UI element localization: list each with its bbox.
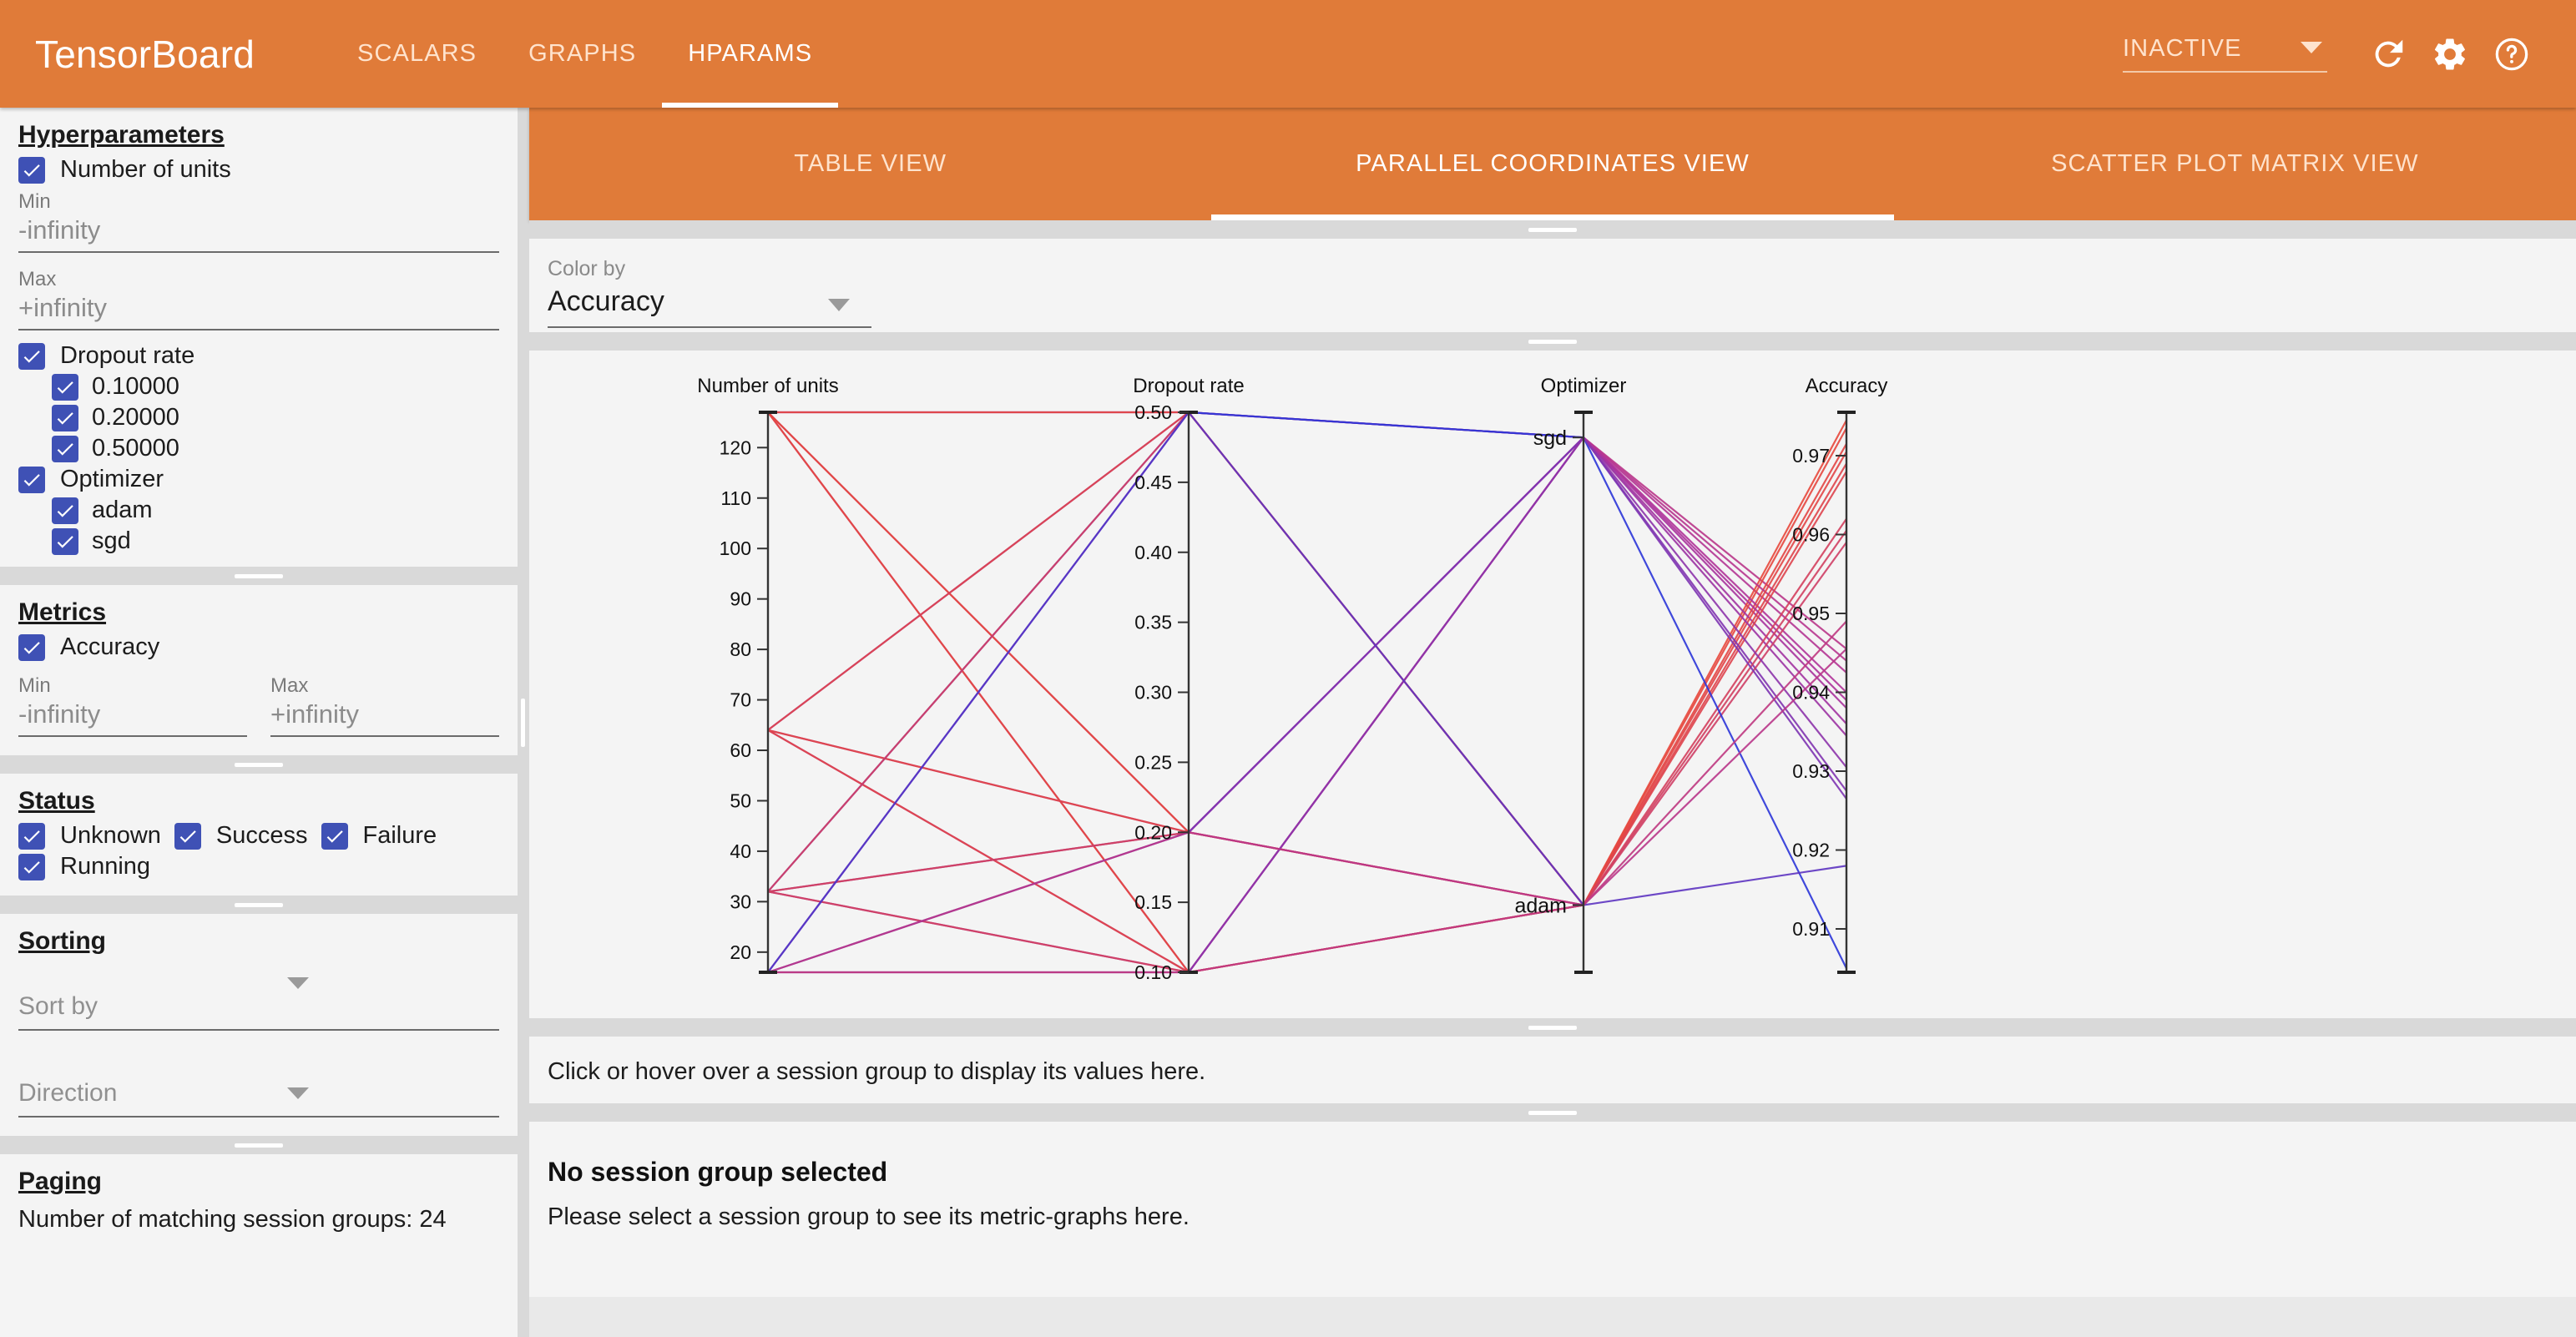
hparam-dropout-rate-row[interactable]: Dropout rate xyxy=(0,341,518,371)
chevron-down-icon xyxy=(2301,42,2322,53)
axis-tick-label: 0.30 xyxy=(1134,682,1172,704)
number-of-units-min-input[interactable]: -infinity xyxy=(18,215,499,251)
axis-tick-label: 20 xyxy=(730,941,751,963)
sidebar-divider-metrics[interactable] xyxy=(0,567,518,585)
matching-session-groups-text: Number of matching session groups: 24 xyxy=(0,1201,518,1234)
help-icon xyxy=(2493,35,2531,73)
session-group-body: Please select a session group to see its… xyxy=(548,1203,1190,1231)
hyperparameters-title: Hyperparameters xyxy=(0,108,518,154)
view-tabs: TABLE VIEW PARALLEL COORDINATES VIEW SCA… xyxy=(529,108,2576,220)
axis-tick-label: 0.95 xyxy=(1792,603,1830,624)
nav-tab-hparams-label: HPARAMS xyxy=(688,40,812,68)
header-actions: INACTIVE xyxy=(2123,23,2576,85)
tab-scatter-plot-matrix-view[interactable]: SCATTER PLOT MATRIX VIEW xyxy=(1894,108,2576,220)
axis-tick-label: 60 xyxy=(730,739,751,761)
axis-category-label: adam xyxy=(1514,894,1567,917)
status-running-label: Running xyxy=(60,853,150,880)
parallel-coordinates-chart[interactable]: Number of units2030405060708090100110120… xyxy=(529,351,2576,1018)
color-by-value[interactable]: Accuracy xyxy=(548,285,664,318)
main-divider-chart[interactable] xyxy=(529,332,2576,351)
session-line[interactable] xyxy=(768,412,1846,906)
hparam-dropout-rate-label: Dropout rate xyxy=(60,342,194,370)
app-header: TensorBoard SCALARS GRAPHS HPARAMS INACT… xyxy=(0,0,2576,108)
axis-title: Accuracy xyxy=(1806,375,1888,397)
reload-status-select[interactable]: INACTIVE xyxy=(2123,35,2327,73)
paging-title: Paging xyxy=(0,1154,518,1201)
metric-accuracy-row[interactable]: Accuracy xyxy=(0,632,518,663)
status-running-row[interactable]: Running xyxy=(18,851,150,882)
main-divider-session[interactable] xyxy=(529,1103,2576,1122)
dropout-rate-value-row[interactable]: 0.20000 xyxy=(0,402,518,433)
resize-grip xyxy=(521,699,525,747)
status-unknown-label: Unknown xyxy=(60,822,161,850)
axis-tick-label: 0.96 xyxy=(1792,523,1830,545)
nav-tab-graphs-label: GRAPHS xyxy=(528,40,636,68)
axis-tick-label: 50 xyxy=(730,790,751,811)
checkbox-dropout-0-50000[interactable] xyxy=(52,436,78,462)
metric-accuracy-label: Accuracy xyxy=(60,633,159,661)
session-line[interactable] xyxy=(768,412,1846,972)
hover-hint-text: Click or hover over a session group to d… xyxy=(548,1058,1205,1086)
optimizer-value-row[interactable]: adam xyxy=(0,495,518,526)
axis-tick-label: 0.92 xyxy=(1792,840,1830,861)
number-of-units-max-field[interactable]: Max +infinity xyxy=(0,253,518,330)
sidebar-divider-status[interactable] xyxy=(0,755,518,774)
sorting-title: Sorting xyxy=(0,914,518,961)
axis-tick-label: 0.50 xyxy=(1134,401,1172,423)
chevron-down-icon xyxy=(287,977,309,989)
axis-tick-label: 30 xyxy=(730,890,751,912)
checkbox-dropout-0-20000[interactable] xyxy=(52,405,78,431)
color-by-panel: Color by Accuracy xyxy=(529,239,2576,332)
dropout-0-10000-label: 0.10000 xyxy=(92,373,179,401)
session-line[interactable] xyxy=(768,412,1846,906)
tab-scatter-plot-matrix-view-label: SCATTER PLOT MATRIX VIEW xyxy=(2051,150,2419,178)
checkbox-optimizer-sgd[interactable] xyxy=(52,528,78,555)
nav-tab-scalars-label: SCALARS xyxy=(357,40,477,68)
tab-parallel-coordinates-view[interactable]: PARALLEL COORDINATES VIEW xyxy=(1211,108,1893,220)
hparam-optimizer-label: Optimizer xyxy=(60,466,164,493)
chevron-down-icon xyxy=(287,1087,309,1099)
status-title: Status xyxy=(0,774,518,820)
axis-tick-label: 100 xyxy=(720,537,751,559)
number-of-units-min-field[interactable]: Min -infinity xyxy=(0,185,518,253)
hover-values-panel: Click or hover over a session group to d… xyxy=(529,1037,2576,1103)
axis-tick-label: 0.35 xyxy=(1134,612,1172,633)
axis-tick-label: 40 xyxy=(730,840,751,862)
dropout-rate-value-row[interactable]: 0.10000 xyxy=(0,371,518,402)
metrics-pane: Metrics Accuracy Min -infinity Max +infi… xyxy=(0,585,518,755)
session-line[interactable] xyxy=(768,412,1846,906)
checkbox-status-failure[interactable] xyxy=(321,823,348,850)
metric-accuracy-range: Min -infinity Max +infinity xyxy=(0,663,518,755)
direction-select[interactable]: Direction xyxy=(0,1031,518,1136)
chevron-down-icon xyxy=(828,299,850,311)
hparam-optimizer-row[interactable]: Optimizer xyxy=(0,464,518,495)
tab-table-view-label: TABLE VIEW xyxy=(794,150,947,178)
metrics-title: Metrics xyxy=(0,585,518,632)
optimizer-adam-label: adam xyxy=(92,497,153,524)
main-divider-colorby[interactable] xyxy=(529,220,2576,239)
axis-tick-label: 120 xyxy=(720,436,751,458)
session-line[interactable] xyxy=(768,621,1846,972)
accuracy-max-field[interactable]: Max +infinity xyxy=(270,674,499,737)
resize-grip xyxy=(1528,340,1577,344)
reload-status-value: INACTIVE xyxy=(2123,35,2327,71)
tab-table-view[interactable]: TABLE VIEW xyxy=(529,108,1211,220)
accuracy-min-label: Min xyxy=(18,674,247,698)
color-by-label: Color by xyxy=(548,257,625,281)
checkbox-optimizer-adam[interactable] xyxy=(52,497,78,524)
resize-grip xyxy=(235,763,283,767)
session-line[interactable] xyxy=(768,412,1846,730)
help-button[interactable] xyxy=(2481,23,2543,85)
session-line[interactable] xyxy=(768,412,1846,972)
session-line[interactable] xyxy=(768,412,1846,972)
checkbox-status-success[interactable] xyxy=(174,823,201,850)
direction-value: Direction xyxy=(18,1079,499,1116)
refresh-icon xyxy=(2369,35,2407,73)
sort-by-select[interactable]: Sort by xyxy=(0,961,518,1031)
accuracy-max-label: Max xyxy=(270,674,499,698)
checkbox-metric-accuracy[interactable] xyxy=(18,634,45,661)
axis-tick-label: 0.15 xyxy=(1134,891,1172,913)
axis-title: Optimizer xyxy=(1541,375,1627,397)
number-of-units-max-underline xyxy=(18,329,499,330)
checkbox-status-unknown[interactable] xyxy=(18,823,45,850)
accuracy-min-field[interactable]: Min -infinity xyxy=(18,674,247,737)
axis-tick-label: 0.10 xyxy=(1134,961,1172,983)
status-failure-row[interactable]: Failure xyxy=(321,820,437,851)
axis-tick-label: 0.91 xyxy=(1792,918,1830,940)
sidebar-divider-paging[interactable] xyxy=(0,1136,518,1154)
hparam-number-of-units-row[interactable]: Number of units xyxy=(0,154,518,185)
resize-grip xyxy=(1528,228,1577,232)
session-line[interactable] xyxy=(768,412,1846,972)
app-title: TensorBoard xyxy=(35,32,255,77)
session-group-panel: No session group selected Please select … xyxy=(529,1122,2576,1297)
parallel-coordinates-svg[interactable]: Number of units2030405060708090100110120… xyxy=(529,351,2576,1018)
number-of-units-min-label: Min xyxy=(18,190,499,214)
axis-category-label: sgd xyxy=(1533,426,1567,450)
nav-tab-hparams[interactable]: HPARAMS xyxy=(662,0,838,108)
dropout-0-50000-label: 0.50000 xyxy=(92,435,179,462)
optimizer-value-row[interactable]: sgd xyxy=(0,526,518,567)
reload-status-underline xyxy=(2123,71,2327,73)
checkbox-dropout-0-10000[interactable] xyxy=(52,374,78,401)
number-of-units-max-label: Max xyxy=(18,268,499,291)
gear-icon xyxy=(2431,35,2469,73)
paging-pane: Paging Number of matching session groups… xyxy=(0,1154,518,1234)
session-line[interactable] xyxy=(768,412,1846,891)
axis-tick-label: 0.94 xyxy=(1792,682,1830,704)
status-success-row[interactable]: Success xyxy=(174,820,308,851)
refresh-button[interactable] xyxy=(2357,23,2419,85)
session-group-heading: No session group selected xyxy=(548,1157,887,1188)
axis-tick-label: 0.40 xyxy=(1134,542,1172,563)
sorting-pane: Sorting Sort by Direction xyxy=(0,914,518,1136)
accuracy-max-underline xyxy=(270,735,499,737)
session-line[interactable] xyxy=(768,531,1846,972)
sidebar-resize-handle[interactable] xyxy=(518,108,529,1337)
axis-tick-label: 0.25 xyxy=(1134,751,1172,773)
session-line[interactable] xyxy=(768,437,1846,832)
sidebar: Hyperparameters Number of units Min -inf… xyxy=(0,108,518,1337)
optimizer-sgd-label: sgd xyxy=(92,527,131,555)
axis-tick-label: 0.93 xyxy=(1792,760,1830,782)
sidebar-divider-sorting[interactable] xyxy=(0,896,518,914)
nav-tab-scalars[interactable]: SCALARS xyxy=(331,0,503,108)
axis-tick-label: 80 xyxy=(730,638,751,660)
status-pane: Status Unknown Success Failure xyxy=(0,774,518,896)
accuracy-min-input[interactable]: -infinity xyxy=(18,699,247,735)
main-nav-tabs: SCALARS GRAPHS HPARAMS xyxy=(331,0,838,108)
status-success-label: Success xyxy=(216,822,308,850)
nav-tab-graphs[interactable]: GRAPHS xyxy=(503,0,662,108)
resize-grip xyxy=(1528,1111,1577,1115)
checkbox-status-running[interactable] xyxy=(18,854,45,880)
axis-tick-label: 0.45 xyxy=(1134,472,1172,493)
settings-button[interactable] xyxy=(2419,23,2481,85)
accuracy-max-input[interactable]: +infinity xyxy=(270,699,499,735)
status-failure-label: Failure xyxy=(363,822,437,850)
dropout-rate-value-row[interactable]: 0.50000 xyxy=(0,433,518,464)
resize-grip xyxy=(235,574,283,578)
tab-parallel-coordinates-view-label: PARALLEL COORDINATES VIEW xyxy=(1356,150,1750,178)
resize-grip xyxy=(235,903,283,907)
axis-tick-label: 90 xyxy=(730,588,751,610)
main-divider-hover[interactable] xyxy=(529,1018,2576,1037)
color-by-underline xyxy=(548,326,871,328)
axis-tick-label: 70 xyxy=(730,689,751,711)
session-line[interactable] xyxy=(768,412,1846,906)
direction-underline xyxy=(18,1116,499,1118)
accuracy-min-underline xyxy=(18,735,247,737)
dropout-0-20000-label: 0.20000 xyxy=(92,404,179,431)
hyperparameters-pane: Hyperparameters Number of units Min -inf… xyxy=(0,108,518,567)
axis-tick-label: 110 xyxy=(720,487,751,509)
hparam-number-of-units-label: Number of units xyxy=(60,156,231,184)
axis-tick-label: 0.20 xyxy=(1134,821,1172,843)
resize-grip xyxy=(235,1143,283,1148)
axis-title: Number of units xyxy=(697,375,838,397)
axis-tick-label: 0.97 xyxy=(1792,445,1830,467)
main-panel: TABLE VIEW PARALLEL COORDINATES VIEW SCA… xyxy=(529,108,2576,1337)
status-checkbox-group: Unknown Success Failure Running xyxy=(0,820,518,896)
status-unknown-row[interactable]: Unknown xyxy=(18,820,161,851)
number-of-units-max-input[interactable]: +infinity xyxy=(18,293,499,329)
resize-grip xyxy=(1528,1026,1577,1030)
checkbox-optimizer[interactable] xyxy=(18,467,45,493)
sort-by-value: Sort by xyxy=(18,992,499,1029)
checkbox-dropout-rate[interactable] xyxy=(18,343,45,370)
checkbox-number-of-units[interactable] xyxy=(18,157,45,184)
axis-title: Dropout rate xyxy=(1133,375,1244,397)
